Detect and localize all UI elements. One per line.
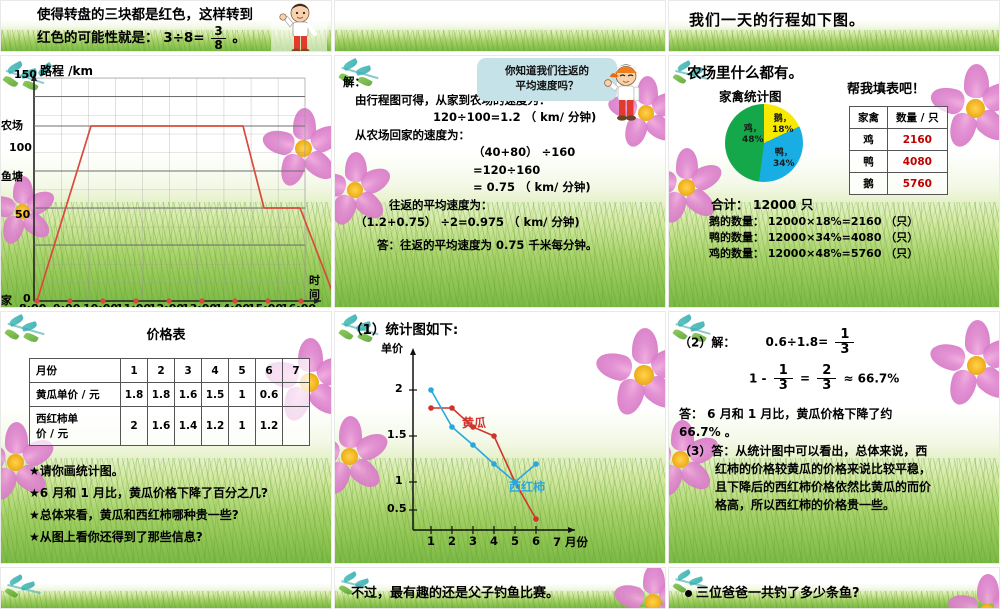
price-chart-y-axis-title: 单价 [381,340,403,356]
slide-average-speed-solution: 你知道我们往返的 平均速度吗？ 解： [334,55,666,308]
solution-line-6: = 0.75 （ km/ 分钟) [343,179,663,197]
pie-label-chicken: 鸡， 48% [742,124,764,146]
probability-line-2: 红色的可能性就是： [37,30,159,46]
slide-answers: （2）解： 0.6÷1.8= 1 3 1 - 1 3 = 2 [668,311,1000,564]
cell-cucumber-1: 1.8 [121,383,148,407]
route-ytick-150: 150 [14,68,37,81]
fraction-one-third: 1 3 [774,364,793,394]
q2-calc-left: 0.6÷1.8= [766,335,829,349]
route-x-axis-title-line2: 间 [309,286,320,302]
line-chart-heading: （1）统计图如下: [349,318,458,338]
pie-label-duck: 鸭， 34% [773,148,795,170]
solution-answer: 答：往返的平均速度为 0.75 千米每分钟。 [343,237,663,255]
route-ytick-50: 50 [15,208,30,221]
route-xtick-0: 8:00 [19,302,46,308]
cell-cucumber-3: 1.6 [175,383,202,407]
fraction-two-thirds: 2 3 [817,364,836,394]
cell-tomato-5: 1 [229,407,256,446]
answer2-line2: 66.7% 。 [679,423,995,441]
answer3-line1: 答：从统计图中可以看出，总体来说，西 [711,444,927,458]
probability-expression: 3÷8= [163,30,204,46]
question-1: ★请你画统计图。 [29,460,268,482]
col-head-poultry: 家禽 [850,107,888,129]
slide-route-graph: 路程 /km 时 间 150 农场 100 鱼塘 50 家 0 8:00 9:0… [0,55,332,308]
price-xtick-6: 6 [532,534,540,548]
bubble-line-2: 平均速度吗？ [483,79,611,94]
probability-period: 。 [232,30,246,46]
calc-chicken: 鸡的数量： 12000×48%=5760 （只） [709,246,918,262]
probability-text: 使得转盘的三块都是红色，这样转到 红色的可能性就是： 3÷8= 3 8 。 [37,5,287,51]
cell-cucumber-6: 0.6 [256,383,283,407]
probability-line-1: 使得转盘的三块都是红色，这样转到 [37,5,287,25]
q3-label: （3） [679,444,711,458]
bubble-line-1: 你知道我们往返的 [483,64,611,79]
slide-day-trip-heading: 我们一天的行程如下图。 [668,0,1000,52]
answer2-line1: 答： 6 月和 1 月比，黄瓜价格下降了约 [679,405,995,423]
cell-cucumber-5: 1 [229,383,256,407]
row-label-tomato-l2: 价 / 元 [36,428,68,440]
cell-tomato-4: 1.2 [202,407,229,446]
q2-calc-fraction: 1 3 [835,328,854,358]
speech-bubble: 你知道我们往返的 平均速度吗？ [477,58,617,101]
col-head-m5: 5 [229,359,256,383]
pie-pct-duck: 34% [773,159,795,169]
boy-with-cap-icon [601,60,651,122]
slide-partial-blank [0,567,332,609]
route-ytick-farm: 农场 [1,117,23,133]
cell-value: 5760 [888,173,948,195]
slide-fish-question: 三位爸爸一共钓了多少条鱼? [668,567,1000,609]
price-table: 月份 1 2 3 4 5 6 7 黄瓜单价 / 元 1.8 1.8 1.6 1.… [29,358,310,446]
series-label-tomato: 西红柿 [509,478,545,495]
solution-line-3: 从农场回家的速度为： [343,127,663,145]
question-3: ★总体来看，黄瓜和西红柿哪种贵一些? [29,504,268,526]
route-ytick-pond: 鱼塘 [1,168,23,184]
route-xtick-7: 15:00 [248,302,283,308]
price-xtick-1: 1 [427,534,435,548]
col-head-m2: 2 [148,359,175,383]
pie-chart-title: 家禽统计图 [719,86,782,105]
cell-name: 鹅 [850,173,888,195]
col-head-month: 月份 [30,359,121,383]
col-head-m7: 7 [283,359,310,383]
fish-question-text: 三位爸爸一共钓了多少条鱼? [685,582,860,601]
question-4: ★从图上看你还得到了那些信息? [29,526,268,548]
price-ytick-0p5: 0.5 [387,502,407,515]
route-xtick-5: 13:00 [182,302,217,308]
solution-line-5: =120÷160 [343,162,663,180]
slide-price-table: 价格表 月份 1 2 3 4 5 6 7 黄瓜单价 / 元 1.8 1.8 1.… [0,311,332,564]
pie-pct-chicken: 48% [742,135,764,145]
slide-price-line-chart: （1）统计图如下: [334,311,666,564]
calc-duck: 鸭的数量： 12000×34%=4080 （只） [709,230,918,246]
route-ytick-100: 100 [9,141,32,154]
col-head-m4: 4 [202,359,229,383]
cell-name: 鸡 [850,129,888,151]
solution-line-8: （1.2+0.75） ÷2=0.975 （ km/ 分钟) [343,214,663,232]
cell-tomato-2: 1.6 [148,407,175,446]
cell-tomato-1: 2 [121,407,148,446]
price-questions: ★请你画统计图。 ★6 月和 1 月比，黄瓜价格下降了百分之几? ★总体来看，黄… [29,460,268,548]
poultry-total: 合计： 12000 只 [711,194,813,213]
pie-label-goose: 鹅， 18% [772,114,794,136]
slide-blank-middle [334,0,666,52]
cell-name: 鸭 [850,151,888,173]
route-xtick-1: 9:00 [53,302,80,308]
cell-tomato-6: 1.2 [256,407,283,446]
table-row: 鸡 2160 [850,129,948,151]
route-chart: 路程 /km 时 间 150 农场 100 鱼塘 50 家 0 8:00 9:0… [1,56,331,307]
table-row: 鸭 4080 [850,151,948,173]
price-line-chart-svg [335,338,666,558]
cell-cucumber-4: 1.5 [202,383,229,407]
price-chart-x-axis-title: 7 月份 [553,534,588,550]
slide-probability: 使得转盘的三块都是红色，这样转到 红色的可能性就是： 3÷8= 3 8 。 [0,0,332,52]
fishing-intro-text: 不过，最有趣的还是父子钓鱼比赛。 [351,582,559,601]
route-xtick-2: 10:00 [83,302,118,308]
cell-tomato-3: 1.4 [175,407,202,446]
poultry-heading: 农场里什么都有。 [687,62,803,83]
price-ytick-1: 1 [395,474,403,487]
poultry-count-table: 家禽 数量 / 只 鸡 2160 鸭 4080 鹅 5760 [849,106,948,195]
table-row-cucumber: 黄瓜单价 / 元 1.8 1.8 1.6 1.5 1 0.6 [30,383,310,407]
grass-background [335,1,665,51]
route-chart-svg [1,56,332,308]
fill-table-prompt: 帮我填表吧！ [847,78,925,97]
cell-cucumber-2: 1.8 [148,383,175,407]
slide-fishing-intro: 不过，最有趣的还是父子钓鱼比赛。 [334,567,666,609]
answer3-line4: 格高，所以西红柿的价格贵一些。 [679,496,995,514]
table-header-row: 月份 1 2 3 4 5 6 7 [30,359,310,383]
route-xtick-3: 11:00 [116,302,151,308]
q2-calc-2: 1 - 1 3 = 2 3 ≈ 66.7% [679,364,995,394]
pie-pct-goose: 18% [772,125,794,135]
price-xtick-4: 4 [490,534,498,548]
price-xtick-2: 2 [448,534,456,548]
col-head-m6: 6 [256,359,283,383]
calc-goose: 鹅的数量： 12000×18%=2160 （只） [709,214,918,230]
route-ytick-home: 家 [1,292,12,308]
row-label-tomato: 西红柿单 价 / 元 [30,407,121,446]
day-trip-heading: 我们一天的行程如下图。 [689,9,865,30]
price-table-title: 价格表 [1,324,331,343]
cell-cucumber-7 [283,383,310,407]
row-label-cucumber: 黄瓜单价 / 元 [30,383,121,407]
route-y-axis-title: 路程 /km [40,62,93,79]
table-header-row: 家禽 数量 / 只 [850,107,948,129]
col-head-count: 数量 / 只 [888,107,948,129]
row-label-tomato-l1: 西红柿单 [36,413,78,425]
solution-line-7: 往返的平均速度为： [343,197,663,215]
question-2: ★6 月和 1 月比，黄瓜价格下降了百分之几? [29,482,268,504]
table-row: 鹅 5760 [850,173,948,195]
cell-value: 2160 [888,129,948,151]
cell-tomato-7 [283,407,310,446]
answer3-line2: 红柿的价格较黄瓜的价格来说比较平稳， [679,460,995,478]
answers-body: （2）解： 0.6÷1.8= 1 3 1 - 1 3 = 2 [679,328,995,514]
boy-pointing-icon [271,3,327,52]
col-head-m1: 1 [121,359,148,383]
cell-value: 4080 [888,151,948,173]
series-label-cucumber: 黄瓜 [462,414,486,431]
table-row-tomato: 西红柿单 价 / 元 2 1.6 1.4 1.2 1 1.2 [30,407,310,446]
solution-line-4: （40+80） ÷160 [343,144,663,162]
route-xtick-8: 16:00 [281,302,316,308]
probability-fraction: 3 8 [211,25,225,51]
price-ytick-2: 2 [395,382,403,395]
slide-poultry-statistics: 农场里什么都有。 家禽统计图 帮我填表吧！ 鸡， 48% 鹅， 18% 鸭， 3… [668,55,1000,308]
col-head-m3: 3 [175,359,202,383]
answer3-line3: 且下降后的西红柿价格依然比黄瓜的而价 [679,478,995,496]
q2-label: （2）解： [679,335,735,349]
bullet-icon [685,590,692,597]
price-xtick-3: 3 [469,534,477,548]
price-ytick-1p5: 1.5 [387,428,407,441]
price-xtick-5: 5 [511,534,519,548]
slide-handout-grid: 使得转盘的三块都是红色，这样转到 红色的可能性就是： 3÷8= 3 8 。 [0,0,1000,600]
poultry-calculations: 鹅的数量： 12000×18%=2160 （只） 鸭的数量： 12000×34%… [709,214,918,262]
route-xtick-4: 12:00 [149,302,184,308]
route-xtick-6: 14:00 [215,302,250,308]
